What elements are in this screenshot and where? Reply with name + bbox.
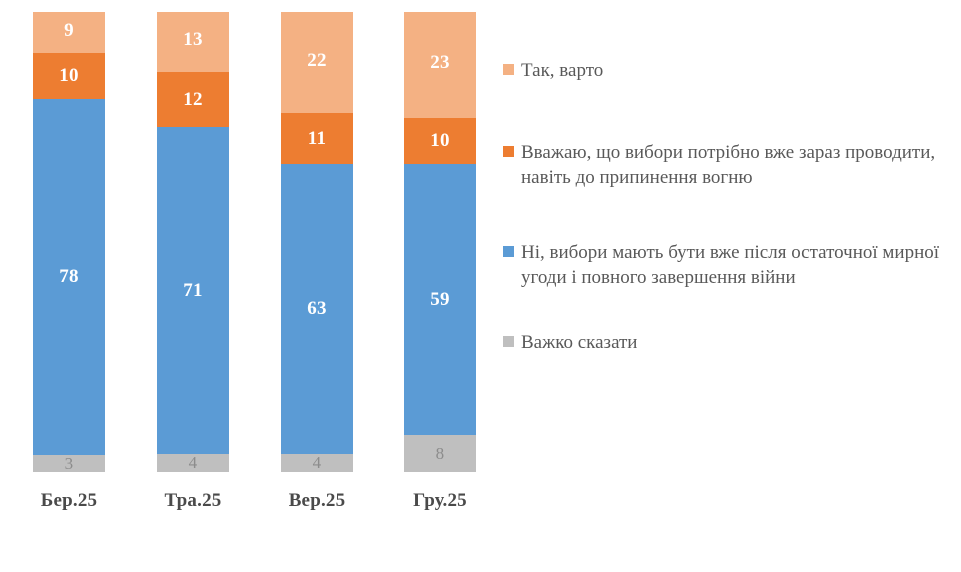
bar-segment-value-label: 10 [59, 66, 79, 85]
bar-segment-value-label: 10 [430, 131, 450, 150]
bar-segment-yes: 9 [33, 12, 105, 53]
bar-segment-after: 59 [404, 164, 476, 435]
bar-segment-value-label: 4 [189, 454, 198, 471]
legend-label: Важко сказати [521, 330, 637, 355]
bar-segment-now: 12 [157, 72, 229, 127]
bar-segment-now: 10 [404, 118, 476, 164]
legend-item-0[interactable]: Так, варто [503, 58, 603, 83]
plot-area: 910783Бер.251312714Тра.252211634Вер.2523… [0, 0, 495, 520]
legend-label: Вважаю, що вибори потрібно вже зараз про… [521, 140, 941, 190]
bar-segment-now: 10 [33, 53, 105, 99]
bar-segment-value-label: 13 [183, 30, 203, 49]
legend-label: Ні, вибори мають бути вже після остаточн… [521, 240, 941, 290]
legend-item-3[interactable]: Важко сказати [503, 330, 637, 355]
bar-column-Гру.25: 2310598 [404, 12, 476, 472]
category-label-Тра.25: Тра.25 [157, 490, 229, 512]
bar-column-Вер.25: 2211634 [281, 12, 353, 472]
legend-label: Так, варто [521, 58, 603, 83]
bar-segment-value-label: 4 [313, 454, 322, 471]
bar-segment-value-label: 71 [183, 281, 203, 300]
bar-segment-value-label: 3 [65, 455, 74, 472]
legend-swatch-icon [503, 336, 514, 347]
bar-segment-value-label: 59 [430, 290, 450, 309]
category-label-Вер.25: Вер.25 [281, 490, 353, 512]
category-label-wrapper: Гру.25 [404, 490, 476, 512]
bar-segment-yes: 13 [157, 12, 229, 72]
bar-segment-unsure: 8 [404, 435, 476, 472]
bar-segment-yes: 22 [281, 12, 353, 113]
chart-legend: Так, вартоВважаю, що вибори потрібно вже… [503, 58, 943, 378]
bar-segment-value-label: 78 [59, 267, 79, 286]
category-label-wrapper: Бер.25 [33, 490, 105, 512]
bar-column-Тра.25: 1312714 [157, 12, 229, 472]
bar-segment-unsure: 4 [281, 454, 353, 472]
legend-swatch-icon [503, 64, 514, 75]
bar-segment-value-label: 8 [436, 445, 445, 462]
category-label-wrapper: Вер.25 [281, 490, 353, 512]
bar-segment-unsure: 4 [157, 454, 229, 472]
category-label-wrapper: Тра.25 [157, 490, 229, 512]
bar-segment-after: 71 [157, 127, 229, 454]
legend-swatch-icon [503, 146, 514, 157]
legend-swatch-icon [503, 246, 514, 257]
legend-item-1[interactable]: Вважаю, що вибори потрібно вже зараз про… [503, 140, 941, 190]
stacked-bar-chart: 910783Бер.251312714Тра.252211634Вер.2523… [0, 0, 961, 572]
bar-segment-value-label: 11 [308, 129, 327, 148]
bar-segment-value-label: 9 [64, 21, 74, 40]
category-label-Бер.25: Бер.25 [33, 490, 105, 512]
bar-segment-value-label: 12 [183, 90, 203, 109]
legend-item-2[interactable]: Ні, вибори мають бути вже після остаточн… [503, 240, 941, 290]
bar-segment-unsure: 3 [33, 455, 105, 472]
bar-column-Бер.25: 910783 [33, 12, 105, 472]
bar-segment-after: 63 [281, 164, 353, 454]
bar-segment-value-label: 22 [307, 51, 327, 70]
bar-segment-after: 78 [33, 99, 105, 455]
bar-segment-now: 11 [281, 113, 353, 164]
bar-segment-yes: 23 [404, 12, 476, 118]
bar-segment-value-label: 23 [430, 53, 450, 72]
category-label-Гру.25: Гру.25 [404, 490, 476, 512]
bar-segment-value-label: 63 [307, 299, 327, 318]
